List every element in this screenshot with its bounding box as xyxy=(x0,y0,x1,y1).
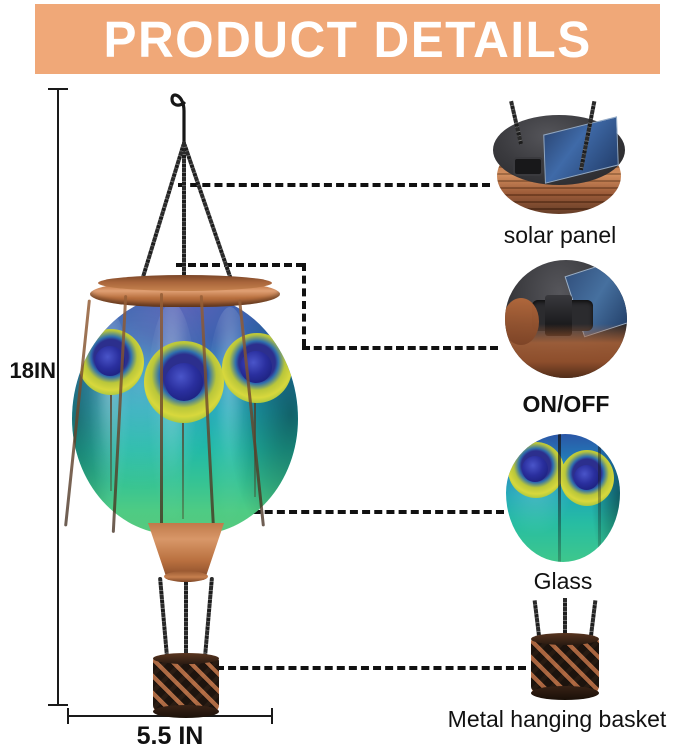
page-title: PRODUCT DETAILS xyxy=(103,14,591,65)
callout-label-glass: Glass xyxy=(443,568,679,595)
top-chain-center xyxy=(182,141,186,293)
peacock-eye-pupil xyxy=(522,456,548,482)
glass-seam xyxy=(558,434,561,562)
width-dimension-label: 5.5 IN xyxy=(67,722,273,751)
peacock-eye-pupil xyxy=(165,363,203,401)
callout-label-on-off: ON/OFF xyxy=(446,391,679,418)
product-illustration xyxy=(60,85,310,710)
basket-chain-left xyxy=(158,577,169,661)
peacock-eye-pupil xyxy=(574,465,599,490)
basket-rim-bottom xyxy=(153,705,219,718)
peacock-eye xyxy=(560,450,614,506)
peacock-eye xyxy=(78,329,144,395)
basket-chain-center xyxy=(184,577,188,659)
copper-rim-top xyxy=(98,275,272,291)
callout-label-basket: Metal hanging basket xyxy=(435,706,679,733)
copper-cone-lip xyxy=(164,571,208,582)
top-chain-right xyxy=(182,142,235,287)
height-dimension-line xyxy=(57,88,59,706)
glass-seam xyxy=(598,434,601,562)
height-dimension-label: 18IN xyxy=(0,358,56,384)
s-hook-icon xyxy=(164,85,204,143)
leader-line-on-off-seg3 xyxy=(302,346,498,350)
peacock-eye xyxy=(222,333,292,403)
basket-chain-right xyxy=(203,577,214,661)
power-switch-icon xyxy=(505,260,627,378)
peacock-glass-globe xyxy=(72,293,298,535)
header-banner: PRODUCT DETAILS xyxy=(35,4,660,74)
basket-callout-rim-top xyxy=(531,633,599,645)
callout-label-solar-panel: solar panel xyxy=(440,222,679,249)
peacock-glass-swatch-icon xyxy=(506,434,620,562)
basket-callout-rim-bottom xyxy=(531,686,599,700)
peacock-eye xyxy=(508,442,564,498)
top-chain-left xyxy=(138,142,186,289)
solar-panel-switch-icon xyxy=(513,157,543,176)
peacock-eye xyxy=(144,341,224,423)
globe-rib xyxy=(160,293,163,535)
copper-cone xyxy=(148,523,224,577)
basket-rim-top xyxy=(153,653,219,664)
infographic-canvas: PRODUCT DETAILS 18IN 5.5 IN xyxy=(0,0,679,746)
